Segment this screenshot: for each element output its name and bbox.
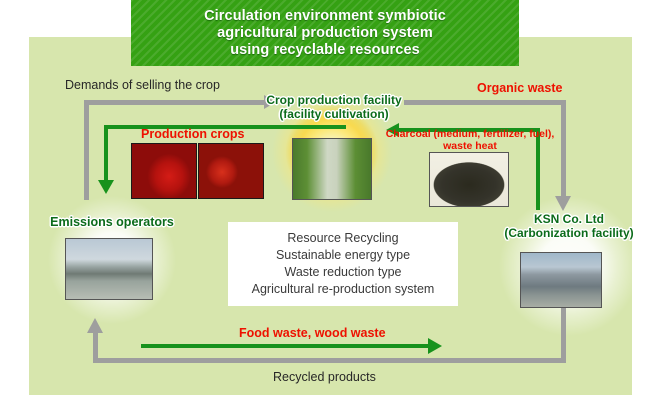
production-crops-label: Production crops (141, 127, 244, 141)
demands-arrow-v (84, 100, 89, 200)
demands-arrow-h (84, 100, 272, 105)
emissions-operators-label: Emissions operators (40, 215, 184, 229)
food-waste-arrow-line (141, 344, 430, 348)
organic-waste-label: Organic waste (477, 81, 562, 95)
tomatoes-photo (198, 143, 264, 199)
charcoal-label: Charcoal (medium, fertilizer, fuel), was… (385, 128, 555, 152)
recycled-products-label: Recycled products (273, 370, 376, 384)
carbonization-plant-photo (520, 252, 602, 308)
recycled-arrowhead (87, 318, 103, 333)
organic-waste-arrow-v (561, 100, 566, 198)
recycled-arrow-right-v (561, 300, 566, 363)
garbage-truck-photo (65, 238, 153, 300)
strawberry-photo (131, 143, 197, 199)
food-waste-label: Food waste, wood waste (239, 326, 386, 340)
title-text: Circulation environment symbiotic agricu… (204, 8, 446, 59)
recycled-arrow-left-v (93, 332, 98, 363)
organic-waste-arrow-h (404, 100, 566, 105)
organic-waste-arrowhead (555, 196, 571, 211)
greenhouse-tomato-rows-photo (292, 138, 372, 200)
crop-facility-label: Crop production facility (facility culti… (266, 93, 402, 121)
recycled-arrow-h (93, 358, 566, 363)
demands-label: Demands of selling the crop (65, 78, 220, 92)
benefits-text: Resource Recycling Sustainable energy ty… (252, 230, 435, 298)
ksn-label: KSN Co. Ltd (Carbonization facility) (494, 212, 644, 240)
diagram-canvas: Circulation environment symbiotic agricu… (0, 0, 650, 400)
crops-arrow-v (104, 125, 108, 182)
charcoal-powder-photo (429, 152, 509, 207)
crops-arrowhead (98, 180, 114, 194)
food-waste-arrowhead (428, 338, 442, 354)
title-banner: Circulation environment symbiotic agricu… (131, 0, 519, 66)
benefits-box: Resource Recycling Sustainable energy ty… (228, 222, 458, 306)
